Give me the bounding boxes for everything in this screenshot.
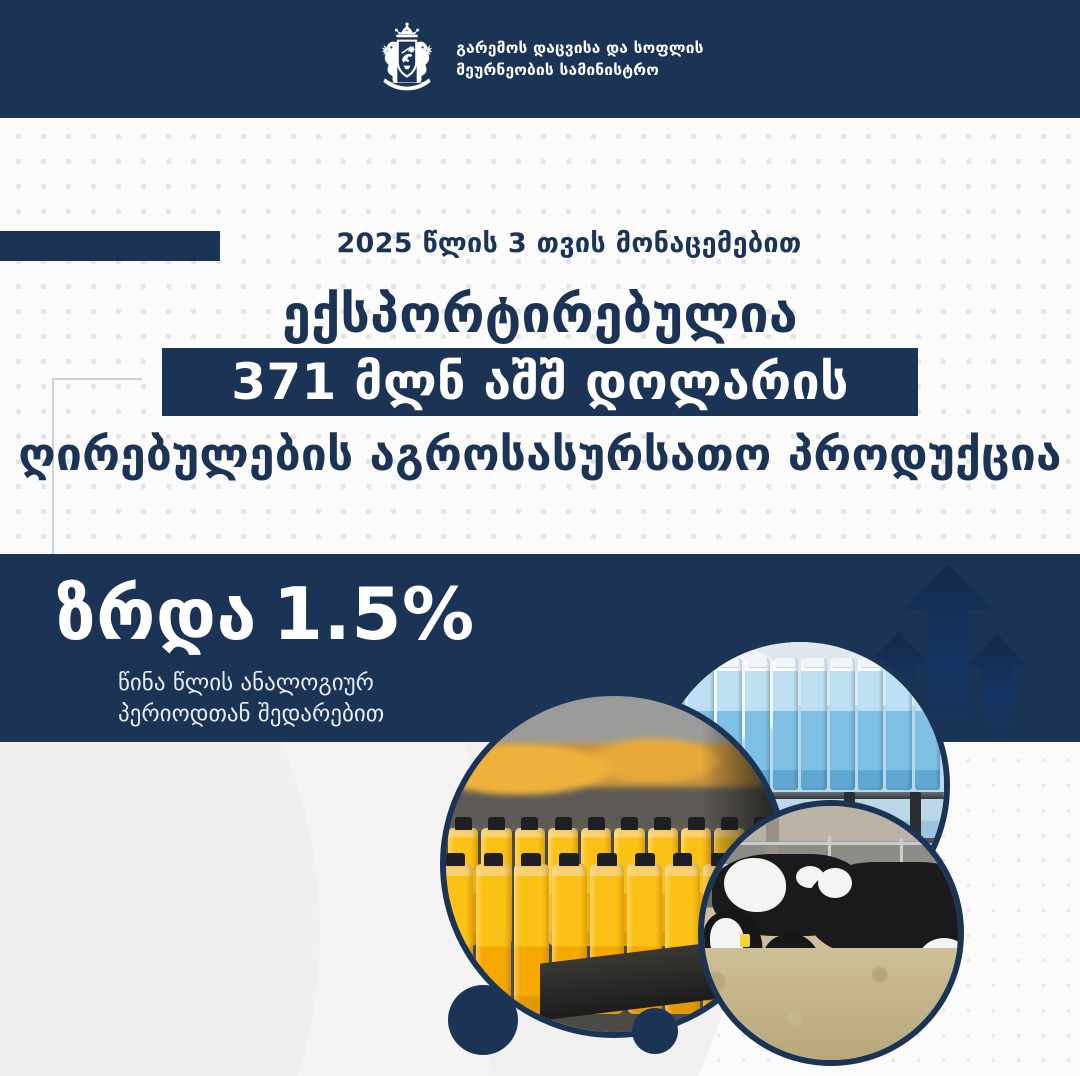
cow-ear-tag (740, 934, 750, 947)
accent-dot-small (632, 1008, 678, 1054)
growth-comparison-note: წინა წლის ანალოგიურ პერიოდთან შედარებით (118, 668, 384, 730)
ministry-name: გარემოს დაცვისა და სოფლის მეურნეობის სამ… (456, 37, 703, 81)
barn-rail (704, 842, 958, 845)
cow-patch (818, 868, 852, 898)
accent-dot-large (448, 985, 518, 1055)
arc-inner (0, 742, 320, 1076)
water-bottle (915, 658, 940, 790)
water-bottle (858, 658, 883, 790)
kicker-text: 2025 წლის 3 თვის მონაცემებით (0, 228, 1080, 259)
highlight-figure-text: 371 მლნ აშშ დოლარის (231, 353, 848, 411)
growth-headline: ზრდა 1.5% (56, 572, 475, 656)
cow-patch (724, 858, 786, 912)
water-bottle (801, 658, 826, 790)
headline-line-3: ღირებულების აგროსასურსათო პროდუქცია (0, 425, 1080, 485)
header: გარემოს დაცვისა და სოფლის მეურნეობის სამ… (0, 0, 1080, 118)
headline-line-1: ექსპორტირებულია (0, 285, 1080, 345)
georgia-coat-of-arms-icon (376, 22, 438, 96)
water-bottle (886, 658, 911, 790)
infographic-poster: გარემოს დაცვისა და სოფლის მეურნეობის სამ… (0, 0, 1080, 1076)
dairy-cattle-image (704, 806, 958, 1060)
highlight-figure-bar: 371 მლნ აშშ დოლარის (162, 348, 918, 416)
growth-value: 1.5% (273, 572, 475, 656)
cattle-feed (698, 948, 964, 1060)
water-bottle (830, 658, 855, 790)
dairy-cattle-photo (698, 800, 964, 1066)
growth-label: ზრდა (56, 572, 257, 656)
